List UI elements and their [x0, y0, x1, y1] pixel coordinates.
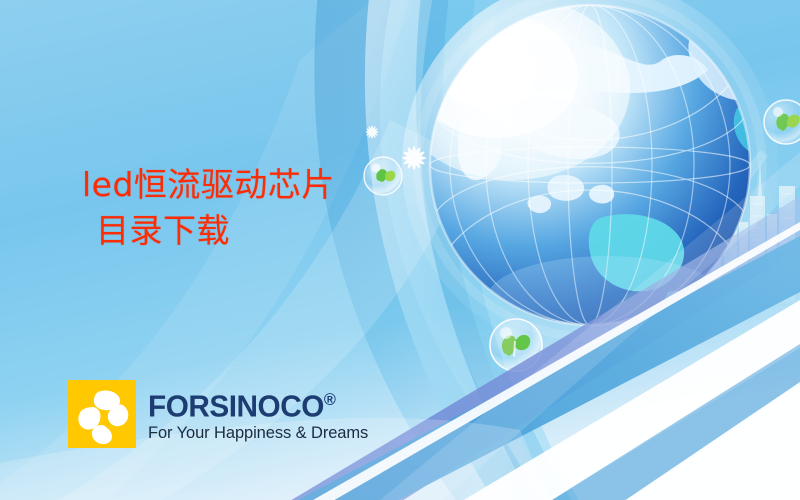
company-logo: FORSINOCO® For Your Happiness & Dreams [68, 380, 368, 448]
logo-company-name-text: FORSINOCO [148, 388, 324, 423]
registered-trademark-icon: ® [324, 390, 336, 409]
banner-canvas: led恒流驱动芯片 目录下载 FORSINOCO® For Your Happi… [0, 0, 800, 500]
logo-wordmark: FORSINOCO® For Your Happiness & Dreams [148, 380, 368, 443]
logo-tagline: For Your Happiness & Dreams [148, 423, 368, 443]
logo-company-name: FORSINOCO® [148, 384, 359, 422]
four-petal-flower-icon [68, 380, 136, 448]
